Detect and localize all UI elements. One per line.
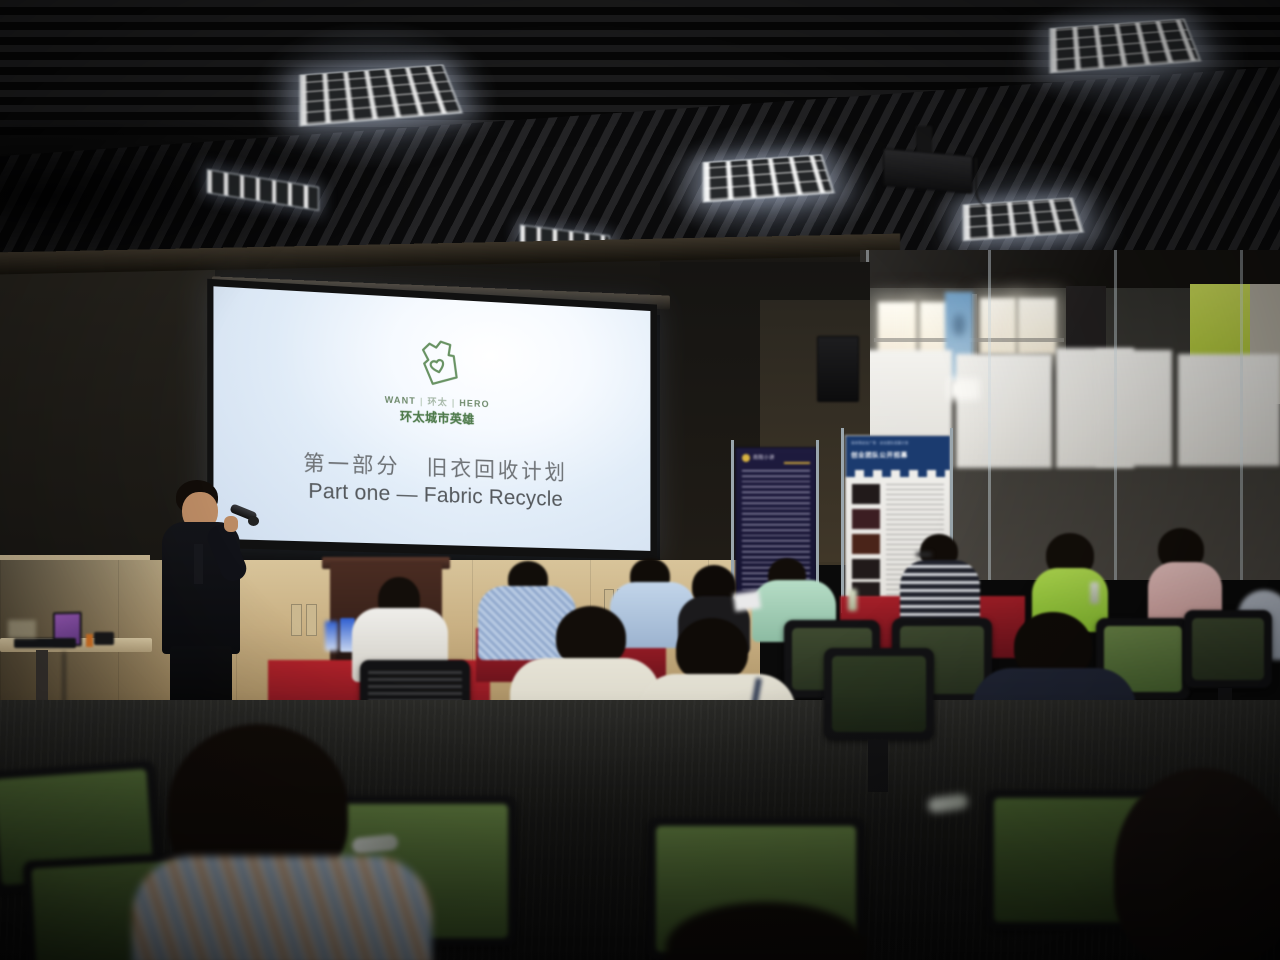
slide-title-cn-topic: 旧衣回收计划 <box>427 457 568 485</box>
slide-content: WANT | 环太 | HERO 环太城市英雄 第一部分旧衣回收计划 Part … <box>213 286 650 551</box>
projector <box>883 148 973 194</box>
chair-green-right-3[interactable] <box>1184 610 1272 688</box>
microphone-head <box>248 516 259 526</box>
water-bottle-3 <box>1090 582 1099 604</box>
audience-hair <box>676 618 748 682</box>
poster-recruitment-title: 创业团队公开招募 <box>851 449 908 459</box>
chair-post <box>868 740 888 792</box>
chair-backrest <box>824 648 934 740</box>
desk-bottles <box>8 620 36 638</box>
poster-recruitment-header-notch <box>846 470 950 477</box>
wall-socket-2[interactable] <box>306 604 317 636</box>
poster-thumb-4 <box>852 559 880 579</box>
poster-thumb-3 <box>852 534 880 554</box>
wall-speaker <box>817 336 859 402</box>
foreground-torso-striped-shirt <box>132 856 432 960</box>
poster-gold-seal-icon <box>742 454 750 462</box>
slide-brand-en-right: HERO <box>459 397 489 408</box>
glasses-icon <box>916 552 932 557</box>
slide-brand-en-mid: 环太 <box>428 395 448 409</box>
presenter-laptop-base[interactable] <box>14 638 76 648</box>
chair-mesh-panel <box>1192 618 1264 680</box>
water-bottle-1 <box>325 621 338 651</box>
poster-recruitment-header-band: 深圳湾创业广场 · 创业团队招募计划 创业团队公开招募 <box>846 436 950 470</box>
desk-object-black <box>94 632 114 645</box>
water-bottle-2 <box>848 589 857 611</box>
presenter-tie <box>194 544 203 584</box>
poster-thumb-2 <box>852 509 880 529</box>
slide-brand-en-left: WANT <box>385 394 416 405</box>
slide-title-cn-part: 第一部分 <box>303 452 400 479</box>
chair-mid-black-1[interactable] <box>824 648 934 740</box>
wall-socket-1[interactable] <box>291 604 302 636</box>
poster-dark-header: 商院小讲 <box>753 454 775 461</box>
chair-mesh-panel <box>832 656 926 732</box>
poster-gold-bar <box>784 462 810 464</box>
projection-screen-surface: WANT | 环太 | HERO 环太城市英雄 第一部分旧衣回收计划 Part … <box>213 286 650 551</box>
desk-object-orange <box>86 634 93 647</box>
projection-screen: WANT | 环太 | HERO 环太城市英雄 第一部分旧衣回收计划 Part … <box>207 279 657 560</box>
foreground-hair <box>1114 768 1280 960</box>
tablet-device[interactable] <box>733 590 761 611</box>
poster-recruitment-subtitle: 深圳湾创业广场 · 创业团队招募计划 <box>851 440 946 445</box>
slide-brand-sep-2: | <box>452 397 456 407</box>
presenter-hand <box>224 516 238 532</box>
poster-thumb-1 <box>852 484 880 504</box>
poster-recruitment-stand-left <box>841 428 844 613</box>
slide-brand-sep-1: | <box>420 396 424 406</box>
tshirt-heart-logo-icon <box>407 334 469 393</box>
photo-scene: WANT | 环太 | HERO 环太城市英雄 第一部分旧衣回收计划 Part … <box>0 0 1280 960</box>
chair-backrest <box>1184 610 1272 688</box>
slide-brand-cn: 环太城市英雄 <box>400 407 475 427</box>
